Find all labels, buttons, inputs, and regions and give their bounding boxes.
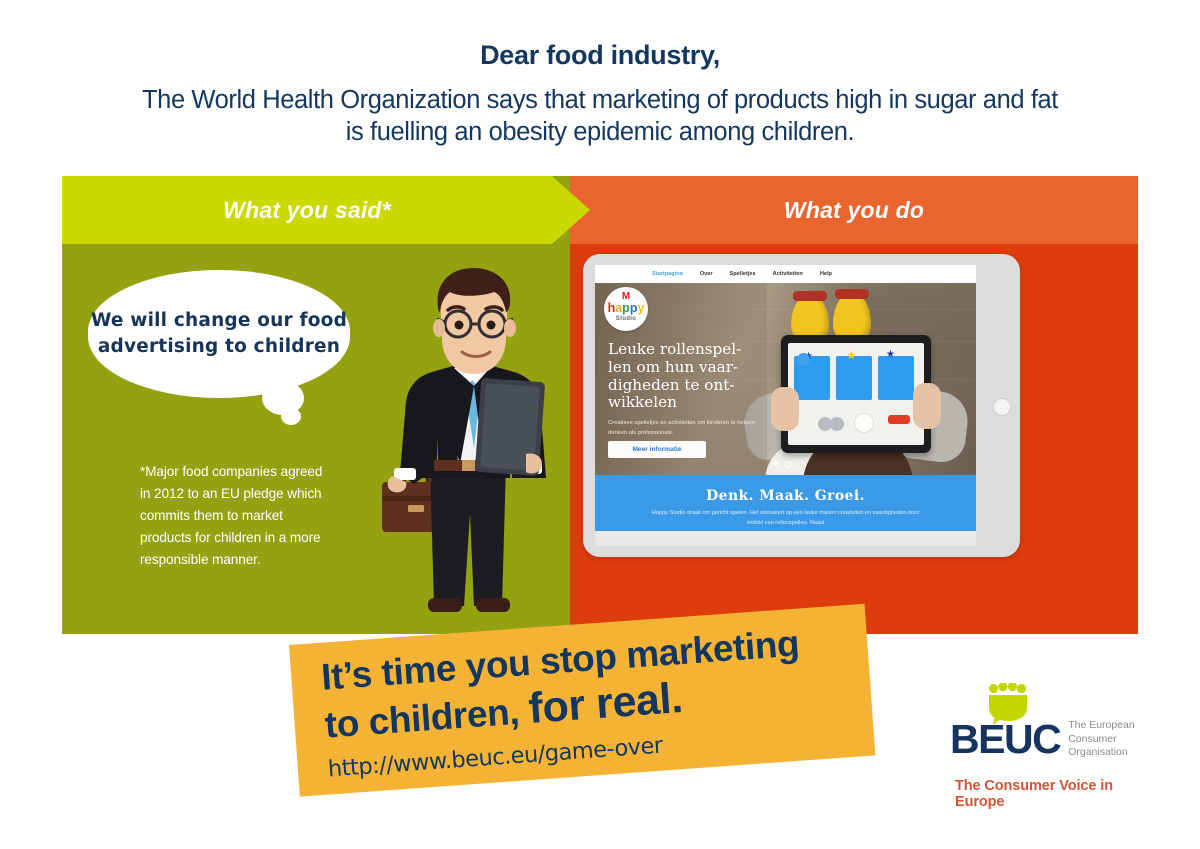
site-navigation: Startpagina Over Spelletjes Activiteiten…: [595, 265, 976, 283]
nav-item-help[interactable]: Help: [820, 271, 832, 277]
happy-studio-wordmark: happy: [608, 302, 645, 315]
call-to-action-text: It’s time you stop marketing to children…: [320, 620, 848, 783]
beuc-tagline: The Consumer Voice in Europe: [955, 778, 1150, 810]
speech-bubble-tail-small: [281, 408, 301, 425]
cta-line-2b: for real.: [527, 674, 684, 733]
game-card-3: [878, 356, 914, 400]
site-blue-section: Denk. Maak. Groei. Happy Studio draait o…: [595, 475, 976, 531]
happy-studio-logo[interactable]: M happy Studio: [604, 287, 648, 331]
tablet-device: Startpagina Over Spelletjes Activiteiten…: [583, 254, 1020, 557]
blue-section-body: Happy Studio draait om gericht spelen. H…: [651, 509, 921, 529]
carousel-dot-1[interactable]: [773, 461, 778, 466]
hero-subtitle: Creatieve spelletjes en activiteiten om …: [608, 419, 768, 439]
hero-title: Leuke rollenspel- len om hun vaar- dighe…: [608, 341, 756, 412]
comparison-panels: What you said* What you do We will chang…: [62, 176, 1138, 634]
play-button-icon[interactable]: [797, 353, 810, 366]
site-hero: ★ ★ ★: [595, 283, 976, 475]
happy-studio-sublabel: Studio: [616, 316, 636, 322]
cta-line-2a: to children,: [323, 690, 530, 746]
speech-bubble: We will change our food advertising to c…: [88, 270, 350, 398]
footnote-text: *Major food companies agreed in 2012 to …: [140, 461, 330, 571]
craft-tool-red: [888, 415, 910, 424]
child-hand-left: [771, 387, 799, 431]
brand-letter-p2: p: [630, 301, 638, 315]
headline-block: Dear food industry, The World Health Org…: [0, 40, 1200, 149]
nav-item-over[interactable]: Over: [700, 271, 713, 277]
tablet-home-button[interactable]: [993, 398, 1011, 416]
page-subtitle: The World Health Organization says that …: [0, 85, 1200, 149]
beuc-strapline: The European Consumer Organisation: [1068, 719, 1135, 759]
meer-informatie-label: Meer informatie: [632, 446, 681, 453]
nav-item-startpagina[interactable]: Startpagina: [652, 271, 683, 277]
craft-tool-white: [854, 413, 874, 433]
beuc-logo: BEUC The European Consumer Organisation …: [950, 683, 1150, 798]
beuc-strapline-line3: Organisation: [1068, 746, 1135, 759]
meer-informatie-button[interactable]: Meer informatie: [608, 441, 706, 458]
page-title: Dear food industry,: [0, 40, 1200, 71]
beuc-wordmark-row: BEUC The European Consumer Organisation: [950, 719, 1135, 760]
site-footer-strip: [595, 531, 976, 546]
carousel-dot-2[interactable]: [785, 461, 792, 468]
poster-canvas: Dear food industry, The World Health Org…: [0, 0, 1200, 849]
speech-bubble-text: We will change our food advertising to c…: [88, 308, 350, 361]
craft-tool-2: [830, 417, 844, 431]
banner-what-you-said-label: What you said*: [62, 176, 552, 244]
child-held-tablet: ★ ★ ★: [781, 335, 931, 453]
brand-letter-a: a: [615, 301, 622, 315]
tablet-screen: Startpagina Over Spelletjes Activiteiten…: [595, 265, 976, 546]
child-tablet-screen: ★ ★ ★: [788, 343, 924, 445]
beuc-wordmark: BEUC: [950, 719, 1060, 760]
child-hand-right: [913, 383, 941, 429]
blue-section-title: Denk. Maak. Groei.: [595, 488, 976, 504]
businessman-illustration: [368, 268, 578, 634]
brand-letter-y: y: [637, 301, 644, 315]
brand-letter-h: h: [608, 301, 616, 315]
page-subtitle-line1: The World Health Organization says that …: [60, 85, 1140, 117]
beuc-strapline-line1: The European: [1068, 719, 1135, 732]
banner-what-you-do-label: What you do: [570, 176, 1138, 244]
page-subtitle-line2: is fuelling an obesity epidemic among ch…: [60, 117, 1140, 149]
nav-item-spelletjes[interactable]: Spelletjes: [730, 271, 756, 277]
beuc-strapline-line2: Consumer: [1068, 733, 1135, 746]
game-card-2: [836, 356, 872, 400]
nav-item-activiteiten[interactable]: Activiteiten: [773, 271, 803, 277]
